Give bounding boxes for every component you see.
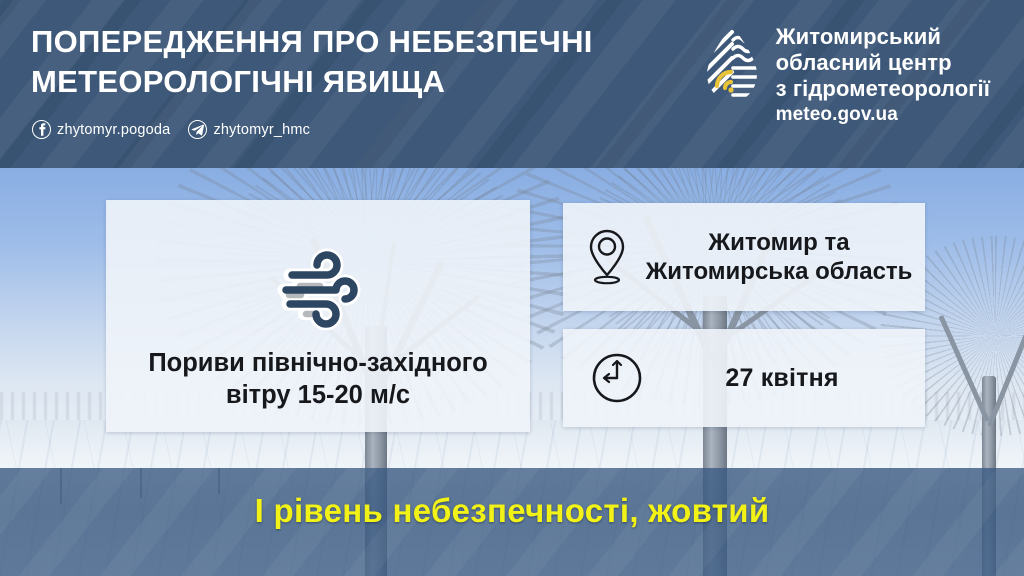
header-bar: ПОПЕРЕДЖЕННЯ ПРО НЕБЕЗПЕЧНІ МЕТЕОРОЛОГІЧ… bbox=[0, 0, 1024, 168]
region-card: Житомир та Житомирська область bbox=[563, 203, 925, 311]
social-links: zhytomyr.pogoda zhytomyr_hmc bbox=[32, 120, 310, 139]
logo-line-2: обласний центр bbox=[776, 50, 990, 76]
clock-icon bbox=[591, 352, 643, 404]
logo-line-1: Житомирський bbox=[776, 24, 990, 50]
date-text: 27 квітня bbox=[655, 364, 925, 393]
phenomenon-text: Пориви північно-західного вітру 15-20 м/… bbox=[118, 348, 518, 411]
logo-website-url[interactable]: meteo.gov.ua bbox=[776, 104, 990, 127]
wind-icon bbox=[264, 248, 372, 332]
region-text: Житомир та Житомирська область bbox=[639, 228, 925, 287]
page-title: ПОПЕРЕДЖЕННЯ ПРО НЕБЕЗПЕЧНІ МЕТЕОРОЛОГІЧ… bbox=[31, 22, 651, 103]
weather-warning-poster: ПОПЕРЕДЖЕННЯ ПРО НЕБЕЗПЕЧНІ МЕТЕОРОЛОГІЧ… bbox=[0, 0, 1024, 576]
facebook-icon bbox=[32, 120, 51, 139]
telegram-icon bbox=[188, 120, 207, 139]
location-pin-icon bbox=[587, 228, 627, 286]
social-handle-facebook: zhytomyr.pogoda bbox=[57, 122, 170, 138]
date-card: 27 квітня bbox=[563, 329, 925, 427]
water-drop-logo-icon bbox=[702, 24, 762, 108]
organization-logo: Житомирський обласний центр з гідрометео… bbox=[702, 24, 990, 126]
logo-line-3: з гідрометеорології bbox=[776, 76, 990, 102]
social-link-facebook[interactable]: zhytomyr.pogoda bbox=[32, 120, 170, 139]
social-handle-telegram: zhytomyr_hmc bbox=[213, 122, 310, 138]
danger-level-text: І рівень небезпечності, жовтий bbox=[0, 492, 1024, 530]
social-link-telegram[interactable]: zhytomyr_hmc bbox=[188, 120, 310, 139]
logo-text-block: Житомирський обласний центр з гідрометео… bbox=[776, 24, 990, 126]
phenomenon-card: Пориви північно-західного вітру 15-20 м/… bbox=[106, 200, 530, 432]
